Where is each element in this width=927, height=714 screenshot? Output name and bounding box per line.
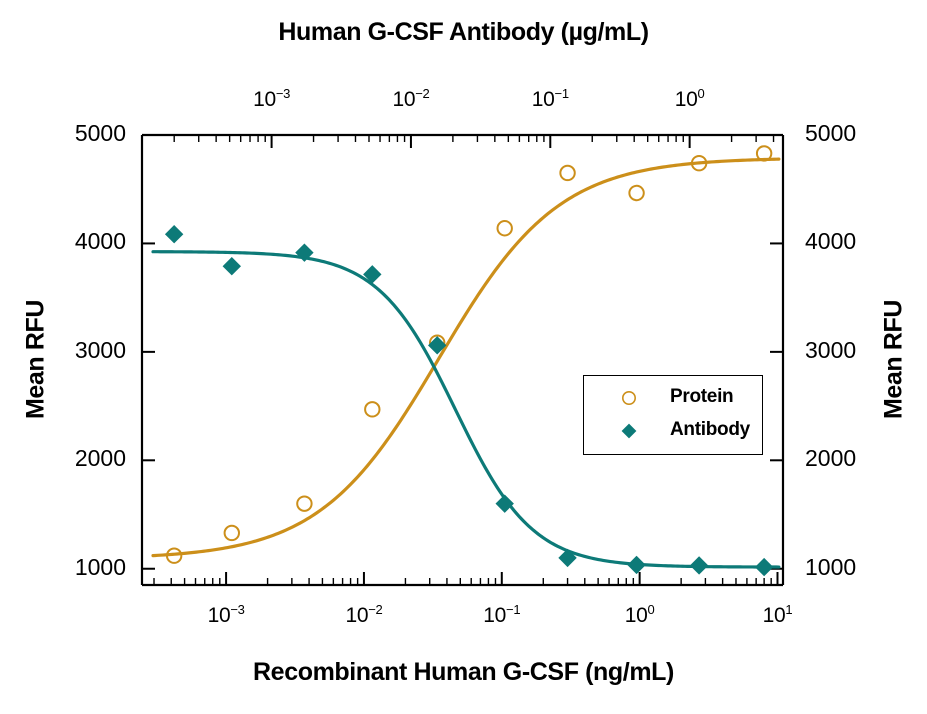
left-axis-ticks: [142, 135, 155, 569]
legend-item-antibody: Antibody: [584, 416, 764, 446]
top-tick-label-10-2: 10−2: [384, 88, 438, 112]
axis-frame: [142, 135, 783, 585]
top-axis-ticks: [174, 135, 773, 148]
bottom-tick-label-10-3: 10−3: [199, 604, 253, 628]
left-tick-label-3000: 3000: [40, 337, 126, 364]
open-circle-icon: [620, 389, 638, 407]
left-tick-label-1000: 1000: [40, 554, 126, 581]
legend: Protein Antibody: [583, 375, 763, 455]
legend-label-protein: Protein: [670, 386, 733, 408]
protein-fit-curve: [153, 159, 779, 555]
left-tick-label-5000: 5000: [40, 120, 126, 147]
legend-label-antibody: Antibody: [670, 419, 750, 441]
bottom-tick-label-100: 100: [613, 604, 667, 628]
top-tick-label-100: 100: [663, 88, 717, 112]
bottom-tick-label-101: 101: [750, 604, 804, 628]
top-tick-label-10-3: 10−3: [245, 88, 299, 112]
top-tick-label-10-1: 10−1: [523, 88, 577, 112]
right-tick-label-3000: 3000: [805, 337, 891, 364]
bottom-tick-label-10-1: 10−1: [475, 604, 529, 628]
left-tick-label-2000: 2000: [40, 445, 126, 472]
right-axis-ticks: [770, 135, 783, 569]
right-tick-label-4000: 4000: [805, 228, 891, 255]
bottom-axis-ticks: [154, 572, 777, 585]
right-tick-label-1000: 1000: [805, 554, 891, 581]
legend-item-protein: Protein: [584, 383, 764, 413]
right-tick-label-2000: 2000: [805, 445, 891, 472]
protein-data-points: [167, 146, 771, 563]
chart-canvas: Human G-CSF Antibody (µg/mL) Recombinant…: [0, 0, 927, 714]
bottom-tick-label-10-2: 10−2: [337, 604, 391, 628]
left-tick-label-4000: 4000: [40, 228, 126, 255]
right-tick-label-5000: 5000: [805, 120, 891, 147]
filled-diamond-icon: [620, 422, 638, 440]
